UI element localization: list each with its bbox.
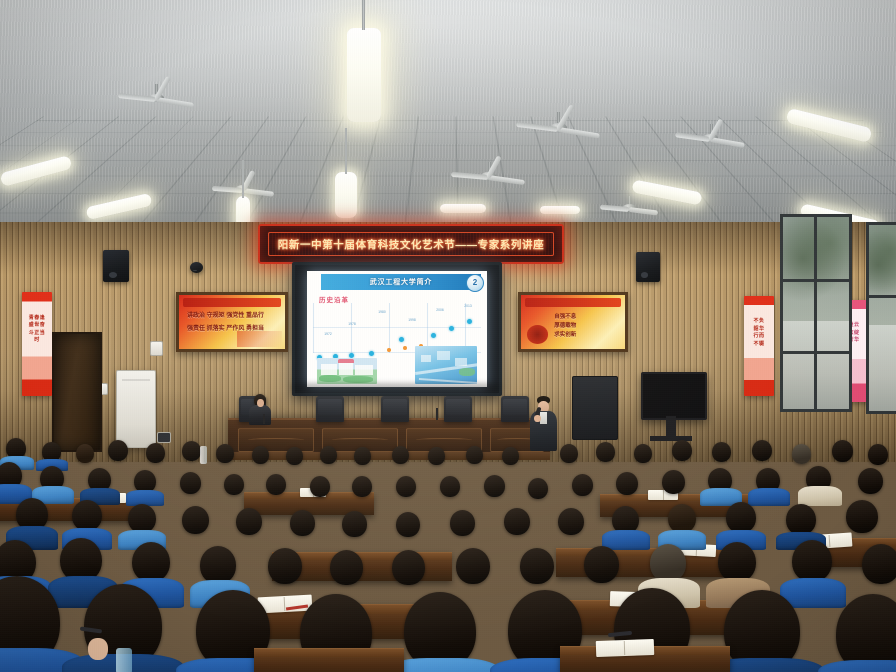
poster-text: 求实创新 [554, 330, 576, 338]
auditorium-photo: 阳新一中第十届体育科技文化艺术节——专家系列讲座 武汉工程大学简介 2 历史沿革… [0, 0, 896, 672]
led-banner-text: 阳新一中第十届体育科技文化艺术节——专家系列讲座 [278, 237, 544, 252]
projection-screen: 武汉工程大学简介 2 历史沿革 1972 1978 1980 1998 2006… [292, 262, 502, 396]
campus-photo-old [317, 358, 377, 384]
audience-row-front [0, 560, 896, 672]
wall-control-panel [150, 341, 163, 356]
audience-body [818, 660, 896, 672]
ceiling-light [440, 204, 486, 213]
wall-speaker [103, 250, 129, 282]
timeline-label: 1998 [399, 319, 425, 323]
window-right [780, 214, 852, 412]
university-logo-icon: 2 [466, 274, 484, 292]
stage-chair [444, 396, 472, 422]
timeline-dot [369, 351, 374, 356]
timeline-label: 2013 [455, 305, 481, 309]
ceiling-fan [600, 196, 658, 214]
wall-speaker [636, 252, 660, 282]
poster-title-band [183, 298, 281, 307]
light-hanger [345, 128, 347, 174]
poster-seal-icon [527, 325, 548, 343]
podium-microphone [436, 408, 438, 420]
stage-chair [501, 396, 529, 422]
host-face [257, 399, 264, 407]
wall-poster-right: 自强不息 厚德载物 求实创新 [518, 292, 628, 352]
led-banner: 阳新一中第十届体育科技文化艺术节——专家系列讲座 [258, 224, 564, 264]
podium-microphone [263, 414, 265, 424]
window-far-right [866, 222, 896, 414]
timeline-label: 2006 [427, 309, 453, 313]
poster-title-band [525, 298, 621, 307]
host-body [249, 405, 271, 425]
lecturer-hand [534, 415, 541, 422]
stage-chair [316, 396, 344, 422]
wall-scroll-right-1: 不负韶华行而不辍 [744, 296, 774, 396]
poster-flourish [237, 331, 282, 347]
window-mullion [783, 279, 849, 282]
water-bottle [116, 648, 132, 672]
lecturer-shirt [540, 412, 547, 424]
poster-text: 厚德载物 [554, 321, 576, 329]
slide-header-bar: 武汉工程大学简介 [321, 274, 481, 290]
campus-photo-aerial [415, 346, 477, 384]
poster-text: 讲政治 守规矩 强党性 重品行 [187, 310, 264, 319]
poster-text: 自强不息 [554, 312, 576, 320]
ceiling-fan [452, 162, 526, 184]
timeline-dot [403, 346, 407, 350]
light-hanger [362, 0, 365, 30]
wall-poster-left: 讲政治 守规矩 强党性 重品行 强责任 抓落实 严作风 勇担当 [176, 292, 288, 352]
logo-glyph: 2 [473, 279, 477, 287]
notebook [596, 639, 655, 657]
scroll-text: 青春逢盛世奋斗正当时 [22, 315, 52, 345]
window-view-trees [869, 225, 896, 325]
ceiling-light [540, 206, 580, 214]
timeline-dot [467, 319, 472, 324]
ceiling-fan [118, 84, 194, 106]
wall-scroll-far-left: 青春逢盛世奋斗正当时 [22, 292, 52, 396]
ceiling-light [335, 172, 357, 218]
timeline-label: 1978 [339, 323, 365, 327]
slide-title: 武汉工程大学简介 [370, 277, 432, 287]
window-mullion [869, 295, 896, 298]
ceiling-light [347, 28, 381, 122]
light-hanger [242, 160, 244, 198]
seated-host [247, 394, 273, 424]
timeline-dot [387, 348, 391, 352]
tv-monitor [641, 372, 707, 420]
timeline-dot [449, 326, 454, 331]
ceiling-fan [676, 124, 746, 146]
window-mullion [814, 217, 817, 409]
audience-hand [88, 638, 108, 660]
scroll-text: 不负韶华行而不辍 [744, 318, 774, 348]
timeline-label: 1980 [369, 311, 395, 315]
wall-speaker [190, 262, 203, 273]
stage-chair [381, 396, 409, 422]
window-mullion [783, 351, 849, 354]
led-inner-frame: 阳新一中第十届体育科技文化艺术节——专家系列讲座 [268, 232, 554, 256]
timeline-dot [431, 333, 436, 338]
desk-top [254, 649, 404, 657]
window-view-ground [869, 325, 896, 411]
ceiling-fan [516, 112, 600, 136]
timeline-dot [399, 337, 404, 342]
presentation-slide: 武汉工程大学简介 2 历史沿革 1972 1978 1980 1998 2006… [307, 271, 487, 387]
audience-desk-front [254, 648, 404, 672]
timeline-label: 1972 [315, 333, 341, 337]
